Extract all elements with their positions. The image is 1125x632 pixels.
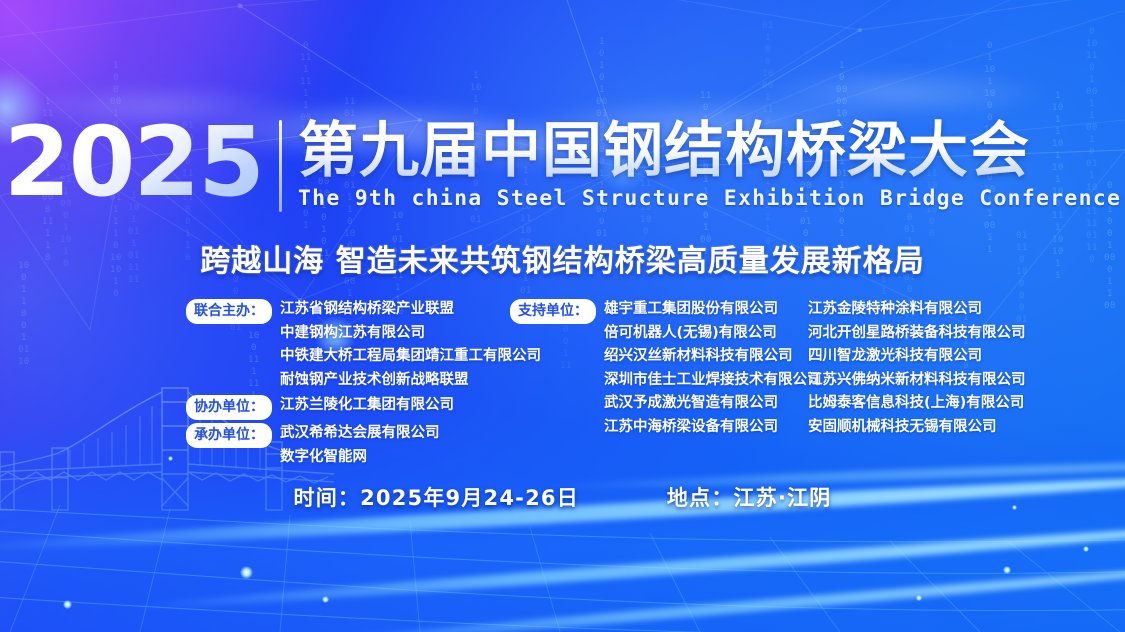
undertaker-list: 武汉希希达会展有限公司 数字化智能网 <box>272 422 440 469</box>
page-subtitle-en: The 9th china Steel Structure Exhibition… <box>298 186 1121 211</box>
supporters-list-one: 雄宇重工集团股份有限公司 倍可机器人(无锡)有限公司 绍兴汉丝新材料科技有限公司… <box>596 298 822 439</box>
supporters-badge: 支持单位： <box>510 299 596 324</box>
banner-content: 2025 第九届中国钢结构桥梁大会 The 9th china Steel St… <box>0 0 1125 632</box>
event-date: 时间：2025年9月24-26日 <box>294 482 579 512</box>
co-organizer-list: 江苏兰陵化工集团有限公司 <box>272 394 454 418</box>
undertaker-badge: 承办单位： <box>186 423 272 448</box>
list-item: 数字化智能网 <box>280 446 440 470</box>
list-item: 江苏金陵特种涂料有限公司 <box>808 298 1108 322</box>
list-item: 安固顺机械科技无锡有限公司 <box>808 416 1108 440</box>
organizers-section: 联合主办： 江苏省钢结构桥梁产业联盟 中建钢构江苏有限公司 中铁建大桥工程局集团… <box>0 298 1125 458</box>
co-organizer-group: 协办单位： 江苏兰陵化工集团有限公司 <box>186 394 506 420</box>
list-item: 绍兴汉丝新材料科技有限公司 <box>604 345 822 369</box>
list-item: 江苏兴佛纳米新材料科技有限公司 <box>808 369 1108 393</box>
list-item: 河北开创星路桥装备科技有限公司 <box>808 322 1108 346</box>
list-item: 江苏中海桥梁设备有限公司 <box>604 416 822 440</box>
list-item: 武汉予成激光智造有限公司 <box>604 392 822 416</box>
supporters-list-two: 江苏金陵特种涂料有限公司 河北开创星路桥装备科技有限公司 四川智龙激光科技有限公… <box>808 298 1108 439</box>
year-heading: 2025 <box>4 118 279 206</box>
supporters-group: 支持单位： 雄宇重工集团股份有限公司 倍可机器人(无锡)有限公司 绍兴汉丝新材料… <box>510 298 810 439</box>
slogan-text: 跨越山海 智造未来共筑钢结构桥梁高质量发展新格局 <box>0 236 1125 280</box>
page-title: 第九届中国钢结构桥梁大会 <box>298 118 1121 184</box>
event-location: 地点：江苏·江阴 <box>667 482 832 512</box>
supporters-right-column: 江苏金陵特种涂料有限公司 河北开创星路桥装备科技有限公司 四川智龙激光科技有限公… <box>808 298 1108 439</box>
list-item: 中铁建大桥工程局集团靖江重工有限公司 <box>280 345 541 369</box>
list-item: 耐蚀钢产业技术创新战略联盟 <box>280 369 541 393</box>
list-item: 倍可机器人(无锡)有限公司 <box>604 322 822 346</box>
co-host-list: 江苏省钢结构桥梁产业联盟 中建钢构江苏有限公司 中铁建大桥工程局集团靖江重工有限… <box>272 298 541 392</box>
title-block: 第九届中国钢结构桥梁大会 The 9th china Steel Structu… <box>282 118 1121 211</box>
list-item: 武汉希希达会展有限公司 <box>280 422 440 446</box>
supporters-middle-column: 支持单位： 雄宇重工集团股份有限公司 倍可机器人(无锡)有限公司 绍兴汉丝新材料… <box>510 298 810 441</box>
co-host-group: 联合主办： 江苏省钢结构桥梁产业联盟 中建钢构江苏有限公司 中铁建大桥工程局集团… <box>186 298 506 392</box>
list-item: 四川智龙激光科技有限公司 <box>808 345 1108 369</box>
list-item: 江苏省钢结构桥梁产业联盟 <box>280 298 541 322</box>
conference-banner: 1 11 1 0 01 1 1 1 00 0 11 1 1 0 0 01 01 … <box>0 0 1125 632</box>
footer-row: 时间：2025年9月24-26日 地点：江苏·江阴 <box>0 482 1125 512</box>
title-row: 2025 第九届中国钢结构桥梁大会 The 9th china Steel St… <box>0 118 1125 212</box>
list-item: 比姆泰客信息科技(上海)有限公司 <box>808 392 1108 416</box>
co-host-badge: 联合主办： <box>186 299 272 324</box>
list-item: 雄宇重工集团股份有限公司 <box>604 298 822 322</box>
list-item: 江苏兰陵化工集团有限公司 <box>280 394 454 418</box>
undertaker-group: 承办单位： 武汉希希达会展有限公司 数字化智能网 <box>186 422 506 469</box>
list-item: 深圳市佳士工业焊接技术有限公司 <box>604 369 822 393</box>
co-organizer-badge: 协办单位： <box>186 395 272 420</box>
list-item: 中建钢构江苏有限公司 <box>280 322 541 346</box>
organizers-left-column: 联合主办： 江苏省钢结构桥梁产业联盟 中建钢构江苏有限公司 中铁建大桥工程局集团… <box>186 298 506 471</box>
